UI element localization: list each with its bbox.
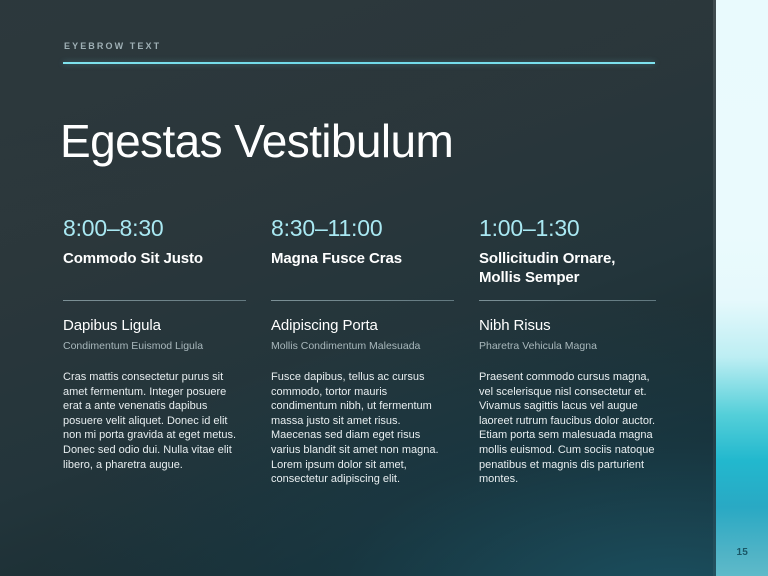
session-name: Sollicitudin Ornare, Mollis Semper bbox=[479, 249, 656, 287]
accent-band bbox=[716, 0, 768, 576]
agenda-columns: 8:00–8:30 Commodo Sit Justo Dapibus Ligu… bbox=[63, 214, 656, 487]
section-subtitle: Condimentum Euismod Ligula bbox=[63, 339, 246, 353]
session-time: 8:00–8:30 bbox=[63, 214, 246, 242]
agenda-column: 1:00–1:30 Sollicitudin Ornare, Mollis Se… bbox=[479, 214, 656, 487]
section-title: Nibh Risus bbox=[479, 316, 656, 336]
session-name: Commodo Sit Justo bbox=[63, 249, 246, 268]
column-divider bbox=[63, 300, 246, 301]
eyebrow-text: EYEBROW TEXT bbox=[64, 41, 161, 51]
section-body: Cras mattis consectetur purus sit amet f… bbox=[63, 370, 243, 472]
presentation-slide: 15 EYEBROW TEXT Egestas Vestibulum 8:00–… bbox=[0, 0, 768, 576]
slide-content: EYEBROW TEXT Egestas Vestibulum 8:00–8:3… bbox=[63, 0, 656, 576]
section-title: Adipiscing Porta bbox=[271, 316, 454, 336]
column-divider bbox=[271, 300, 454, 301]
section-subtitle: Pharetra Vehicula Magna bbox=[479, 339, 656, 353]
eyebrow-rule bbox=[63, 62, 655, 64]
section-subtitle: Mollis Condimentum Malesuada bbox=[271, 339, 454, 353]
session-name: Magna Fusce Cras bbox=[271, 249, 454, 268]
session-time: 8:30–11:00 bbox=[271, 214, 454, 242]
session-time: 1:00–1:30 bbox=[479, 214, 656, 242]
agenda-column: 8:30–11:00 Magna Fusce Cras Adipiscing P… bbox=[271, 214, 479, 487]
page-title: Egestas Vestibulum bbox=[60, 113, 453, 169]
section-body: Fusce dapibus, tellus ac cursus commodo,… bbox=[271, 370, 451, 487]
agenda-column: 8:00–8:30 Commodo Sit Justo Dapibus Ligu… bbox=[63, 214, 271, 487]
section-title: Dapibus Ligula bbox=[63, 316, 246, 336]
section-body: Praesent commodo cursus magna, vel scele… bbox=[479, 370, 657, 487]
page-number: 15 bbox=[736, 547, 748, 558]
column-divider bbox=[479, 300, 656, 301]
